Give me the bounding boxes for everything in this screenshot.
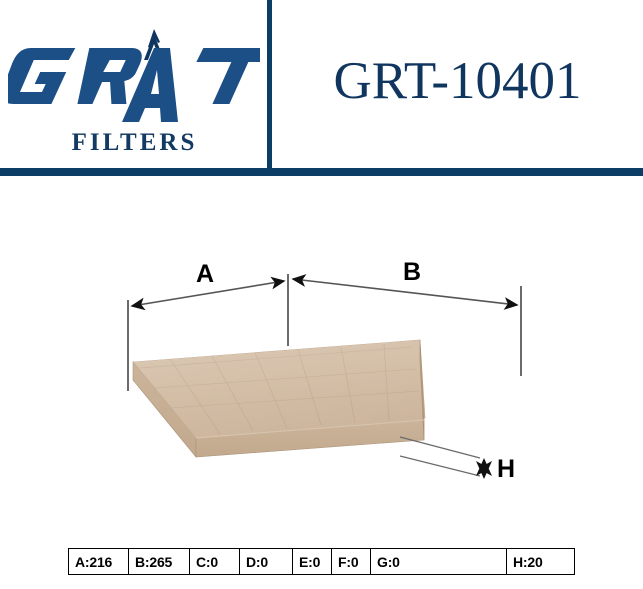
page-header: FILTERS GRT-10401 [0,0,643,176]
specification-table: A:216 B:265 C:0 D:0 E:0 F:0 G:0 H:20 [68,548,575,575]
dimension-a-label: A [196,260,214,288]
spec-cell-g: G:0 [371,549,507,574]
header-horizontal-rule [0,168,643,176]
dimension-b-label: B [403,258,421,286]
filter-technical-drawing: A B H [0,186,643,516]
spec-cell-h: H:20 [507,549,574,574]
dimension-h-leader-bottom [400,456,480,476]
part-number-title: GRT-10401 [272,0,643,168]
brand-letter-g [8,48,75,104]
brand-subtitle: FILTERS [0,130,269,155]
spec-cell-d: D:0 [240,549,293,574]
spec-cell-a: A:216 [69,549,129,574]
spec-cell-b: B:265 [129,549,190,574]
brand-logo-block: FILTERS [0,0,269,170]
filter-body [133,340,425,457]
dimension-h-leader-top [400,437,480,458]
brand-letter-t [187,48,260,104]
spec-cell-e: E:0 [293,549,332,574]
dimension-h-label: H [497,455,515,483]
brand-wordmark-grat [8,26,260,122]
product-diagram: A B H [0,186,643,516]
spec-cell-f: F:0 [332,549,371,574]
dimension-h: H [400,437,515,483]
spec-cell-c: C:0 [190,549,240,574]
